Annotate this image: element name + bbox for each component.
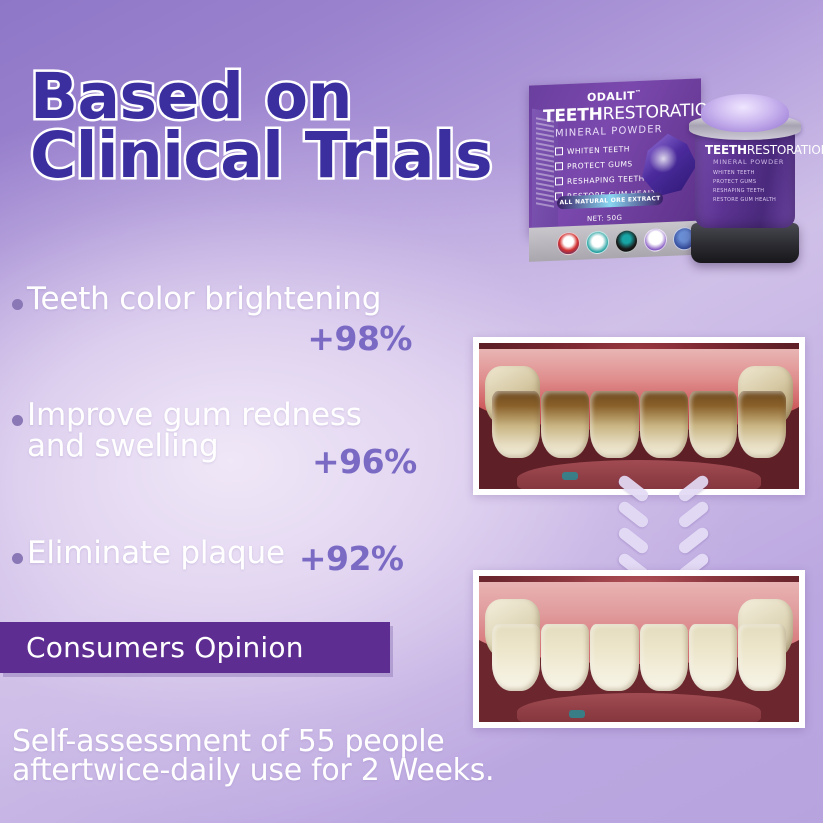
consumers-opinion-banner: Consumers Opinion — [0, 622, 390, 673]
certification-seal-strip — [529, 220, 711, 262]
tooth — [590, 391, 638, 458]
product-jar: ODALIT TEETHRESTORATION MINERAL POWDER W… — [685, 88, 805, 263]
usa-flag-seal-icon — [557, 231, 580, 255]
benefit-label: Eliminate plaque — [27, 538, 285, 569]
benefit-value-wrap: +98% — [12, 319, 452, 358]
product-box: ODALIT™ TEETHRESTORATION MINERAL POWDER … — [529, 78, 701, 235]
benefit-row-3: Eliminate plaque +92% — [12, 538, 452, 577]
benefit-label-line: Teeth color brightening — [12, 284, 452, 315]
jar-feature-item: WHITEN TEETH — [713, 170, 776, 176]
jar-product-subtitle: MINERAL POWDER — [713, 158, 784, 166]
after-photo — [473, 570, 805, 728]
banner-label: Consumers Opinion — [0, 631, 304, 664]
brand-name: ODALIT™ — [587, 89, 641, 104]
quality-purple-seal-icon — [644, 228, 667, 252]
trademark-symbol: ™ — [635, 89, 641, 96]
tooth — [492, 624, 540, 691]
checkbox-icon — [555, 177, 563, 185]
tooth — [492, 391, 540, 458]
tooth — [541, 624, 589, 691]
tooth — [689, 391, 737, 458]
bullet-dot-icon — [12, 415, 23, 426]
bullet-dot-icon — [12, 299, 23, 310]
jar-feature-list: WHITEN TEETH PROTECT GUMS RESHAPING TEET… — [713, 170, 776, 206]
jar-product-name: TEETHRESTORATION — [705, 143, 823, 157]
tooth — [738, 624, 786, 691]
net-weight-label: NET: 50G — [587, 214, 622, 223]
brand-label: ODALIT — [587, 89, 635, 104]
product-feature-item: WHITEN TEETH — [555, 142, 663, 157]
benefit-percentage: +98% — [307, 319, 412, 358]
tongue — [517, 693, 760, 728]
before-mouth-image — [479, 343, 799, 489]
bullet-dot-icon — [12, 553, 23, 564]
product-subtitle: MINERAL POWDER — [555, 124, 663, 140]
dental-association-seal-icon — [586, 230, 609, 254]
benefit-percentage: +92% — [299, 539, 404, 578]
dental-instrument — [562, 472, 578, 480]
certified-black-seal-icon — [615, 229, 638, 253]
tooth — [738, 391, 786, 458]
jar-feature-item: RESTORE GUM HEALTH — [713, 197, 776, 203]
tooth — [640, 391, 688, 458]
checkbox-icon — [555, 162, 563, 170]
tooth — [541, 391, 589, 458]
product-name-bold: TEETH — [543, 105, 603, 128]
benefit-row-1: Teeth color brightening +98% — [12, 284, 452, 358]
benefit-label: Teeth color brightening — [27, 284, 381, 315]
jar-base — [691, 223, 799, 263]
jar-feature-item: RESHAPING TEETH — [713, 188, 776, 194]
after-mouth-image — [479, 576, 799, 722]
checkbox-icon — [555, 147, 563, 155]
tooth — [640, 624, 688, 691]
jar-body-label: ODALIT TEETHRESTORATION MINERAL POWDER W… — [695, 128, 795, 228]
dental-instrument — [569, 710, 585, 718]
tooth — [689, 624, 737, 691]
benefit-percentage: +96% — [312, 442, 417, 481]
product-imagery: ODALIT™ TEETHRESTORATION MINERAL POWDER … — [505, 60, 823, 275]
tooth — [590, 624, 638, 691]
purple-powder — [701, 94, 789, 132]
benefit-value-wrap: +96% — [312, 442, 417, 481]
jar-feature-item: PROTECT GUMS — [713, 179, 776, 185]
box-side-text-lines — [536, 117, 554, 240]
ad-poster: Based on Clinical Trials ODALIT™ TEETHRE… — [0, 0, 823, 823]
down-arrow-chevrons — [612, 470, 708, 582]
study-footnote: Self-assessment of 55 people aftertwice-… — [12, 727, 572, 786]
benefit-row-2: Improve gum redness and swelling +96% — [12, 400, 452, 462]
